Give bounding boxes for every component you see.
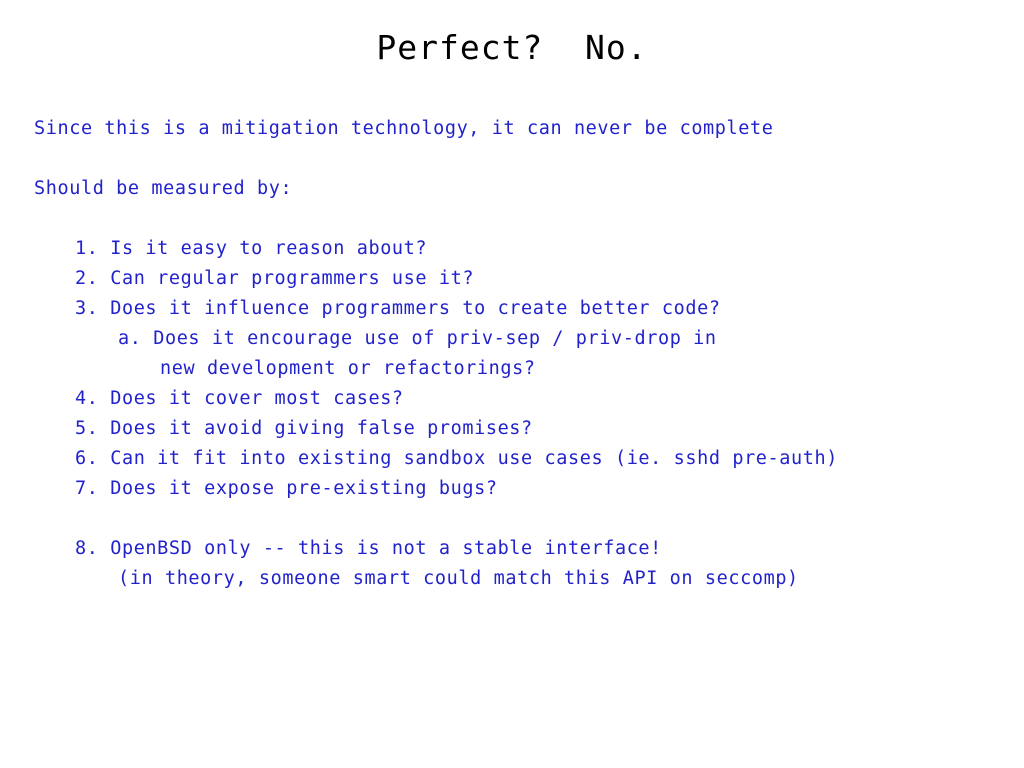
slide-canvas: Perfect? No. Since this is a mitigation … <box>0 0 1024 768</box>
list-item: new development or refactorings? <box>34 354 1014 384</box>
criteria-list: 1. Is it easy to reason about?2. Can reg… <box>34 234 1014 504</box>
list-item: 2. Can regular programmers use it? <box>34 264 1014 294</box>
intro-paragraph: Since this is a mitigation technology, i… <box>34 114 1014 144</box>
list-item-marker: a. <box>118 328 141 349</box>
list-item: 8. OpenBSD only -- this is not a stable … <box>34 534 1014 564</box>
list-item-label: Does it influence programmers to create … <box>98 298 720 319</box>
criteria-heading: Should be measured by: <box>34 174 1014 204</box>
list-item-label: Does it expose pre-existing bugs? <box>98 478 497 499</box>
list-item-marker: 4. <box>75 388 98 409</box>
list-item: 7. Does it expose pre-existing bugs? <box>34 474 1014 504</box>
paragraph-gap-2 <box>34 204 1014 234</box>
final-note-list: 8. OpenBSD only -- this is not a stable … <box>34 534 1014 594</box>
list-item-marker: 5. <box>75 418 98 439</box>
page-title: Perfect? No. <box>0 28 1024 68</box>
paragraph-gap-3 <box>34 504 1014 534</box>
list-item: 5. Does it avoid giving false promises? <box>34 414 1014 444</box>
list-item: (in theory, someone smart could match th… <box>34 564 1014 594</box>
list-item-label: OpenBSD only -- this is not a stable int… <box>98 538 661 559</box>
list-item-label: Can regular programmers use it? <box>98 268 474 289</box>
slide-body: Since this is a mitigation technology, i… <box>34 114 1014 594</box>
list-item-label: Does it encourage use of priv-sep / priv… <box>141 328 716 349</box>
list-item-label: new development or refactorings? <box>160 358 536 379</box>
list-item-marker: 1. <box>75 238 98 259</box>
list-item: 3. Does it influence programmers to crea… <box>34 294 1014 324</box>
list-item: 1. Is it easy to reason about? <box>34 234 1014 264</box>
list-item-marker: 8. <box>75 538 98 559</box>
list-item-label: Is it easy to reason about? <box>98 238 427 259</box>
list-item-label: Does it cover most cases? <box>98 388 403 409</box>
list-item-marker: 3. <box>75 298 98 319</box>
list-item-label: Can it fit into existing sandbox use cas… <box>98 448 838 469</box>
list-item: 6. Can it fit into existing sandbox use … <box>34 444 1014 474</box>
list-item-label: (in theory, someone smart could match th… <box>118 568 799 589</box>
list-item: a. Does it encourage use of priv-sep / p… <box>34 324 1014 354</box>
paragraph-gap-1 <box>34 144 1014 174</box>
list-item-marker: 7. <box>75 478 98 499</box>
list-item: 4. Does it cover most cases? <box>34 384 1014 414</box>
list-item-marker: 2. <box>75 268 98 289</box>
list-item-marker: 6. <box>75 448 98 469</box>
list-item-label: Does it avoid giving false promises? <box>98 418 532 439</box>
